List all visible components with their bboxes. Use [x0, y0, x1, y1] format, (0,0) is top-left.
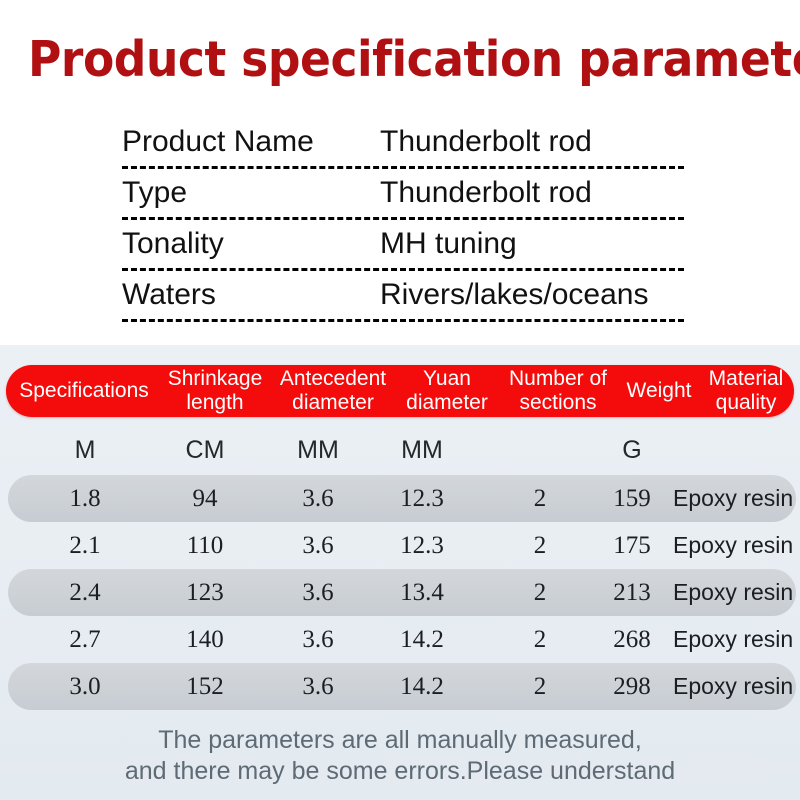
cell-shrinkage-length: 152 — [150, 663, 260, 710]
cell-shrinkage-length: 110 — [150, 522, 260, 569]
cell-weight: 159 — [592, 475, 672, 522]
spec-label: Waters — [122, 278, 380, 312]
table-header-specifications: Specifications — [10, 365, 158, 417]
cell-specification: 2.7 — [20, 616, 150, 663]
table-row[interactable]: 2.7 140 3.6 14.2 2 268 Epoxy resin — [0, 616, 800, 663]
cell-number-of-sections: 2 — [480, 616, 600, 663]
cell-antecedent-diameter: 3.6 — [262, 569, 374, 616]
spec-value: MH tuning — [380, 227, 684, 261]
spec-label: Tonality — [122, 227, 380, 261]
spec-label: Product Name — [122, 125, 380, 159]
cell-number-of-sections: 2 — [480, 475, 600, 522]
unit-antecedent-diameter: MM — [262, 430, 374, 470]
spec-label: Type — [122, 176, 380, 210]
unit-shrinkage-length: CM — [150, 430, 260, 470]
cell-weight: 298 — [592, 663, 672, 710]
specification-table-panel: Specifications Shrinkage length Antecede… — [0, 345, 800, 800]
spec-value: Thunderbolt rod — [380, 176, 684, 210]
cell-yuan-diameter: 13.4 — [372, 569, 472, 616]
spec-value: Thunderbolt rod — [380, 125, 684, 159]
spec-row-waters: Waters Rivers/lakes/oceans — [122, 271, 684, 322]
table-row[interactable]: 2.4 123 3.6 13.4 2 213 Epoxy resin — [0, 569, 800, 616]
unit-material-quality — [680, 430, 790, 470]
cell-yuan-diameter: 12.3 — [372, 522, 472, 569]
unit-weight: G — [592, 430, 672, 470]
cell-weight: 175 — [592, 522, 672, 569]
cell-antecedent-diameter: 3.6 — [262, 616, 374, 663]
spec-row-type: Type Thunderbolt rod — [122, 169, 684, 220]
cell-specification: 3.0 — [20, 663, 150, 710]
measurement-disclaimer: The parameters are all manually measured… — [0, 725, 800, 787]
cell-material-quality: Epoxy resin — [673, 569, 800, 616]
cell-weight: 268 — [592, 616, 672, 663]
cell-material-quality: Epoxy resin — [673, 663, 800, 710]
cell-yuan-diameter: 14.2 — [372, 616, 472, 663]
cell-number-of-sections: 2 — [480, 663, 600, 710]
table-header-yuan-diameter: Yuan diameter — [397, 365, 497, 417]
unit-yuan-diameter: MM — [372, 430, 472, 470]
cell-material-quality: Epoxy resin — [673, 475, 800, 522]
disclaimer-line-1: The parameters are all manually measured… — [0, 725, 800, 756]
unit-number-of-sections — [480, 430, 600, 470]
cell-yuan-diameter: 12.3 — [372, 475, 472, 522]
cell-specification: 2.4 — [20, 569, 150, 616]
spec-row-product-name: Product Name Thunderbolt rod — [122, 118, 684, 169]
table-header-number-of-sections: Number of sections — [498, 365, 618, 417]
cell-shrinkage-length: 94 — [150, 475, 260, 522]
cell-number-of-sections: 2 — [480, 522, 600, 569]
cell-specification: 1.8 — [20, 475, 150, 522]
table-row[interactable]: 2.1 110 3.6 12.3 2 175 Epoxy resin — [0, 522, 800, 569]
table-row[interactable]: 1.8 94 3.6 12.3 2 159 Epoxy resin — [0, 475, 800, 522]
cell-number-of-sections: 2 — [480, 569, 600, 616]
cell-shrinkage-length: 140 — [150, 616, 260, 663]
cell-yuan-diameter: 14.2 — [372, 663, 472, 710]
table-header-row: Specifications Shrinkage length Antecede… — [6, 365, 794, 417]
table-header-weight: Weight — [619, 365, 699, 417]
spec-value: Rivers/lakes/oceans — [380, 278, 684, 312]
cell-shrinkage-length: 123 — [150, 569, 260, 616]
table-header-material-quality: Material quality — [700, 365, 792, 417]
table-header-shrinkage-length: Shrinkage length — [161, 365, 269, 417]
spec-row-tonality: Tonality MH tuning — [122, 220, 684, 271]
cell-antecedent-diameter: 3.6 — [262, 522, 374, 569]
table-header-antecedent-diameter: Antecedent diameter — [270, 365, 396, 417]
cell-antecedent-diameter: 3.6 — [262, 663, 374, 710]
cell-antecedent-diameter: 3.6 — [262, 475, 374, 522]
cell-material-quality: Epoxy resin — [673, 522, 800, 569]
unit-specifications: M — [20, 430, 150, 470]
cell-material-quality: Epoxy resin — [673, 616, 800, 663]
table-row[interactable]: 3.0 152 3.6 14.2 2 298 Epoxy resin — [0, 663, 800, 710]
page-title: Product specification parameters — [28, 33, 735, 87]
product-spec-list: Product Name Thunderbolt rod Type Thunde… — [122, 118, 684, 322]
disclaimer-line-2: and there may be some errors.Please unde… — [0, 756, 800, 787]
title-band: Product specification parameters — [0, 0, 800, 104]
cell-weight: 213 — [592, 569, 672, 616]
cell-specification: 2.1 — [20, 522, 150, 569]
table-units-row: M CM MM MM G — [0, 430, 800, 470]
